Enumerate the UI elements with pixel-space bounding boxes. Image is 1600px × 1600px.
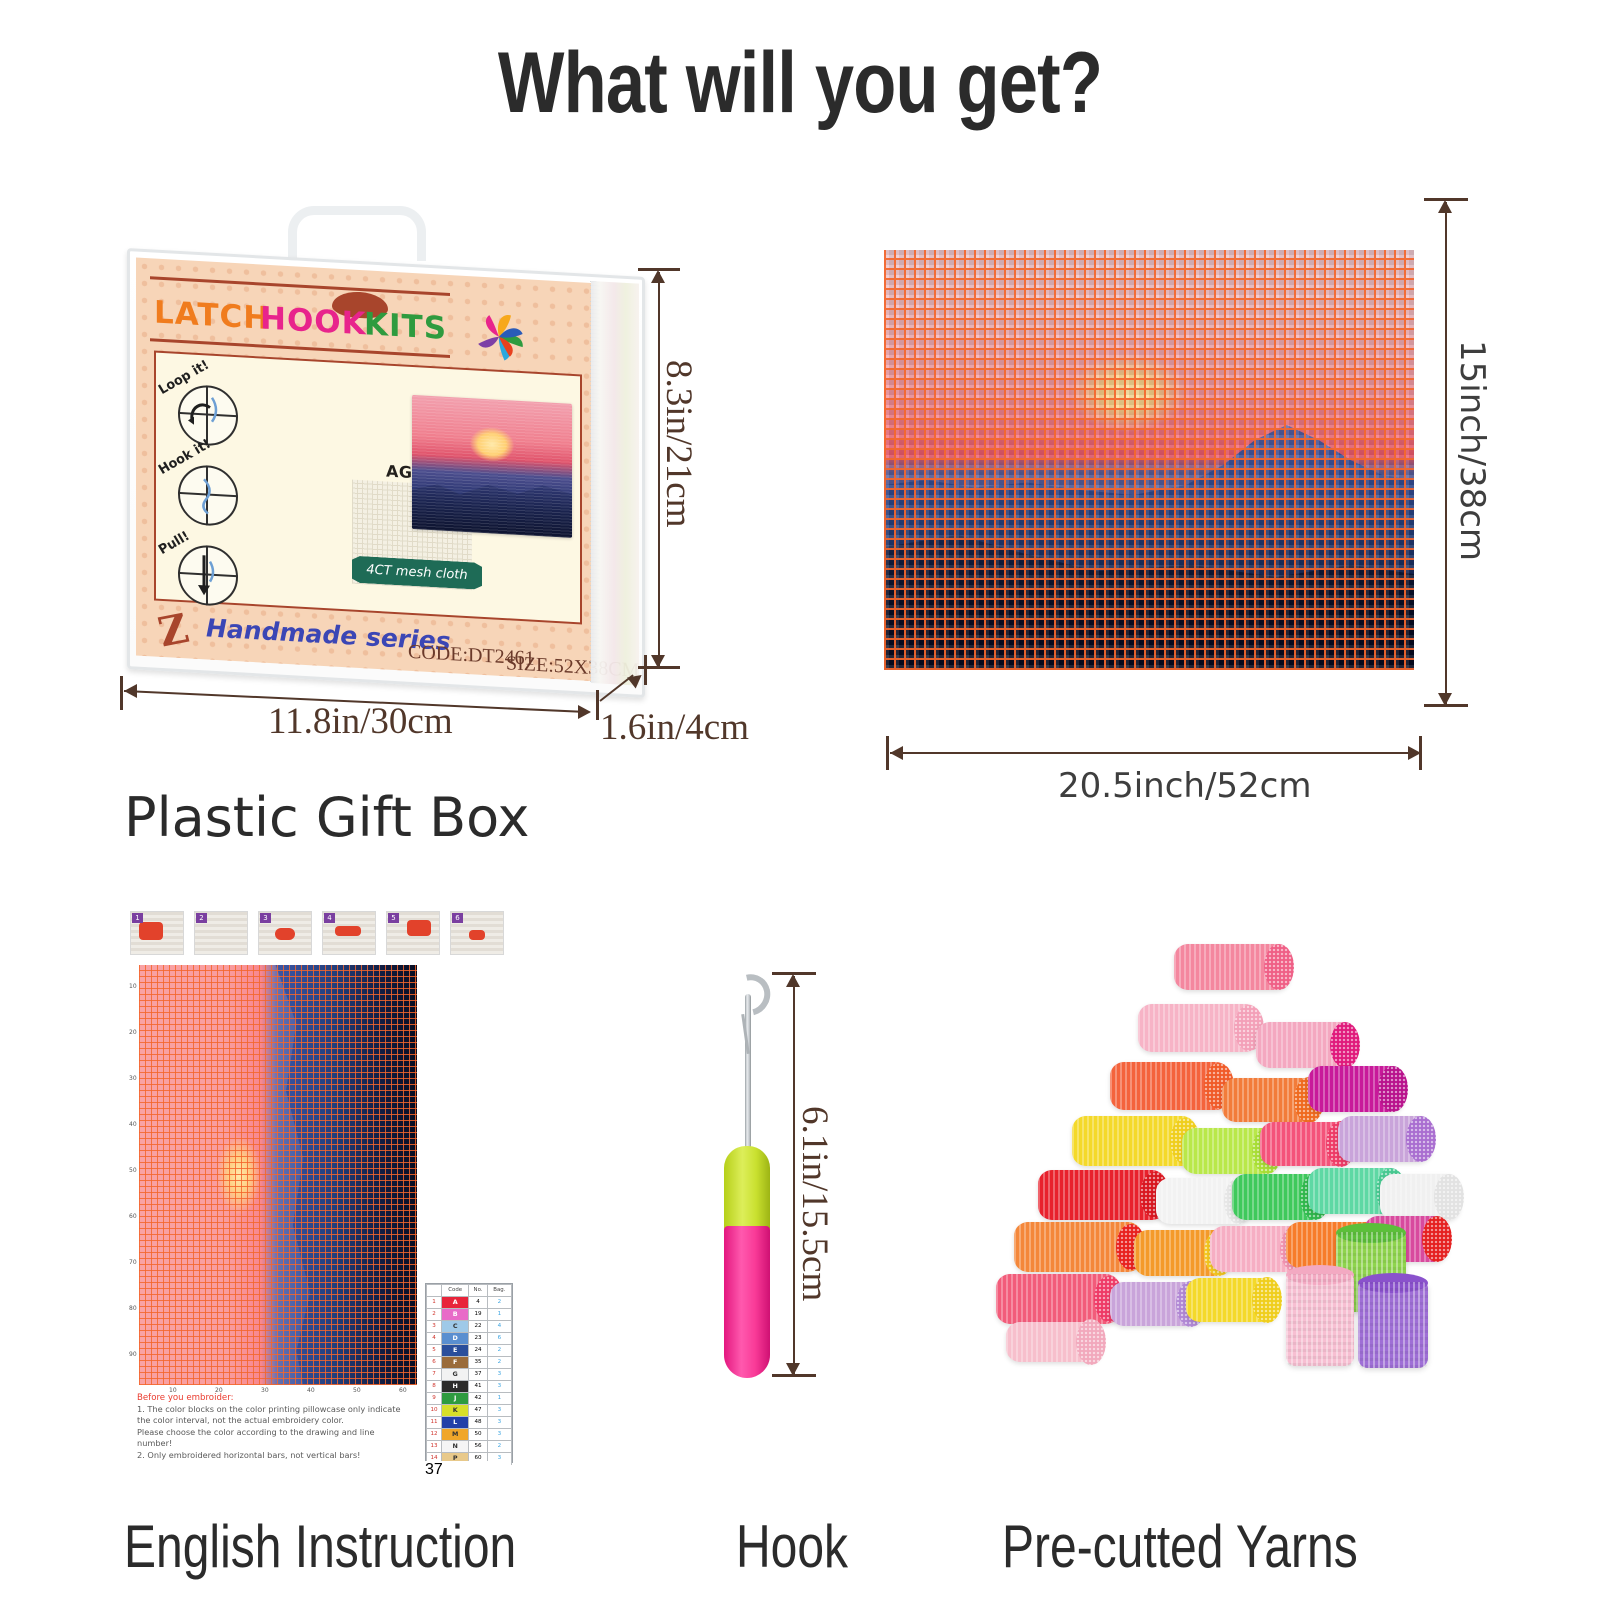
step-thumbnail-3: 3 — [258, 911, 312, 955]
legend-bag: 1 — [487, 1309, 511, 1321]
step-thumbnail-2: 2 — [194, 911, 248, 955]
box-side-contents — [591, 281, 639, 686]
instruction-caption: English Instruction — [124, 1512, 516, 1581]
legend-no: 47 — [469, 1405, 487, 1417]
legend-no: 35 — [469, 1357, 487, 1369]
yarn-piece — [1308, 1066, 1404, 1112]
step-thumbnail-6: 6 — [450, 911, 504, 955]
legend-row: 13N562 — [427, 1441, 512, 1453]
legend-th-bag: Bag. — [487, 1285, 511, 1297]
yarn-piece — [1186, 1278, 1278, 1322]
legend-th-index — [427, 1285, 442, 1297]
legend-index: 7 — [427, 1369, 442, 1381]
legend-code: K — [442, 1405, 469, 1417]
step-thumbnail-5: 5 — [386, 911, 440, 955]
legend-index: 11 — [427, 1417, 442, 1429]
legend-no: 56 — [469, 1441, 487, 1453]
yarns-caption: Pre-cutted Yarns — [1002, 1512, 1358, 1581]
brand-word-kits: KITS — [364, 306, 447, 347]
notice-heading: Before you embroider: — [137, 1393, 407, 1403]
legend-no: 48 — [469, 1417, 487, 1429]
instruction-sheet: 1 2 3 4 5 6 102030405060708090 102030405… — [125, 905, 515, 1470]
step-thumbnail-1: 1 — [130, 911, 184, 955]
yarn-piece — [996, 1274, 1120, 1324]
legend-row: 5E242 — [427, 1345, 512, 1357]
pinwheel-logo-icon — [468, 304, 530, 369]
legend-row: 11L483 — [427, 1417, 512, 1429]
preview-yarn-texture — [412, 395, 572, 538]
legend-code: G — [442, 1369, 469, 1381]
loop-step-icon — [178, 384, 238, 447]
legend-no: 41 — [469, 1381, 487, 1393]
color-legend-table: Code No. Bag. 1A422B1913C2244D2365E2426F… — [425, 1283, 513, 1463]
legend-row: 8H413 — [427, 1381, 512, 1393]
yarn-piece — [1138, 1004, 1260, 1052]
legend-index: 5 — [427, 1345, 442, 1357]
box-front-face: LATCH HOOK KITS Loop it! — [136, 258, 591, 681]
yarn-bundle — [1286, 1274, 1354, 1366]
legend-code: E — [442, 1345, 469, 1357]
legend-code: B — [442, 1309, 469, 1321]
legend-bag: 3 — [487, 1405, 511, 1417]
brand-word-latch: LATCH — [154, 295, 270, 337]
legend-index: 9 — [427, 1393, 442, 1405]
chart-ruler-tick: 40 — [129, 1121, 137, 1128]
chart-ruler-tick: 60 — [129, 1213, 137, 1220]
legend-code: J — [442, 1393, 469, 1405]
legend-index: 10 — [427, 1405, 442, 1417]
legend-index: 1 — [427, 1297, 442, 1309]
legend-code: H — [442, 1381, 469, 1393]
legend-bag: 6 — [487, 1333, 511, 1345]
legend-index: 13 — [427, 1441, 442, 1453]
legend-row: 7G373 — [427, 1369, 512, 1381]
yarn-piece — [1380, 1174, 1460, 1220]
legend-bag: 2 — [487, 1357, 511, 1369]
notice-line-4: 2. Only embroidered horizontal bars, not… — [137, 1450, 407, 1461]
yarn-piece — [1038, 1170, 1166, 1220]
legend-no: 22 — [469, 1321, 487, 1333]
box-inner-card: Loop it! Hook it! Pull! — [154, 351, 582, 625]
legend-row: 1A42 — [427, 1297, 512, 1309]
legend-row: 3C224 — [427, 1321, 512, 1333]
yarn-piece — [1256, 1022, 1356, 1068]
chart-ruler-tick: 70 — [129, 1259, 137, 1266]
legend-row: 12M503 — [427, 1429, 512, 1441]
legend-no: 19 — [469, 1309, 487, 1321]
legend-no: 37 — [469, 1369, 487, 1381]
hook-handle-green — [724, 1146, 770, 1232]
legend-index: 2 — [427, 1309, 442, 1321]
legend-index: 12 — [427, 1429, 442, 1441]
legend-no: 4 — [469, 1297, 487, 1309]
legend-index: 6 — [427, 1357, 442, 1369]
step-thumbnail-strip: 1 2 3 4 5 6 — [130, 905, 515, 957]
chart-ruler-tick: 10 — [129, 983, 137, 990]
box-body: LATCH HOOK KITS Loop it! — [127, 248, 645, 698]
step-thumbnail-4: 4 — [322, 911, 376, 955]
chart-ruler-tick: 80 — [129, 1305, 137, 1312]
chart-ruler-tick: 90 — [129, 1351, 137, 1358]
pattern-chart — [139, 965, 417, 1385]
gift-box-illustration: LATCH HOOK KITS Loop it! — [120, 200, 660, 670]
chart-ruler-tick: 20 — [129, 1029, 137, 1036]
legend-bag: 2 — [487, 1345, 511, 1357]
mesh-canvas-illustration — [884, 250, 1414, 670]
infographic-page: What will you get? LATCH HOOK KITS — [0, 0, 1600, 1600]
chart-grid-overlay — [139, 965, 417, 1385]
brand-word-hook: HOOK — [260, 300, 367, 342]
legend-code: M — [442, 1429, 469, 1441]
legend-bag: 4 — [487, 1321, 511, 1333]
gift-box-caption: Plastic Gift Box — [124, 786, 529, 849]
hook-handle-pink — [724, 1226, 770, 1378]
yarn-piece — [1014, 1222, 1142, 1272]
page-title: What will you get? — [144, 34, 1456, 133]
brand-rule-top — [150, 276, 450, 296]
yarn-piece — [1174, 944, 1290, 990]
legend-table: Code No. Bag. 1A422B1913C2244D2365E2426F… — [426, 1284, 512, 1465]
legend-bag: 3 — [487, 1417, 511, 1429]
legend-bag: 3 — [487, 1369, 511, 1381]
yarn-bundle — [1358, 1282, 1428, 1368]
legend-th-code: Code — [442, 1285, 469, 1297]
yarn-piece — [1072, 1116, 1196, 1166]
legend-bag: 3 — [487, 1381, 511, 1393]
legend-no: 23 — [469, 1333, 487, 1345]
legend-index: 8 — [427, 1381, 442, 1393]
legend-bag: 2 — [487, 1297, 511, 1309]
legend-code: L — [442, 1417, 469, 1429]
legend-no: 24 — [469, 1345, 487, 1357]
yarn-piece — [1338, 1116, 1432, 1162]
legend-row: 2B191 — [427, 1309, 512, 1321]
legend-bag: 1 — [487, 1393, 511, 1405]
legend-th-no: No. — [469, 1285, 487, 1297]
yarn-piece — [1006, 1322, 1102, 1362]
legend-index: 3 — [427, 1321, 442, 1333]
legend-bag: 2 — [487, 1441, 511, 1453]
legend-code: A — [442, 1297, 469, 1309]
hook-step-icon — [178, 464, 238, 527]
handmade-mark-icon: Z — [154, 602, 205, 651]
legend-row: 6F352 — [427, 1357, 512, 1369]
legend-row: 10K473 — [427, 1405, 512, 1417]
legend-code: F — [442, 1357, 469, 1369]
legend-bag: 3 — [487, 1429, 511, 1441]
hook-needle — [745, 994, 751, 1154]
yarn-piece — [1222, 1078, 1320, 1122]
legend-total: 37 — [425, 1461, 511, 1479]
chart-ruler-left: 102030405060708090 — [129, 965, 139, 1385]
hook-caption: Hook — [736, 1512, 848, 1581]
before-you-embroider-notice: Before you embroider: 1. The color block… — [137, 1393, 407, 1461]
legend-code: C — [442, 1321, 469, 1333]
yarn-illustration — [960, 930, 1460, 1390]
box-handle — [288, 206, 426, 261]
chart-ruler-tick: 30 — [129, 1075, 137, 1082]
chart-ruler-tick: 50 — [129, 1167, 137, 1174]
pull-step-icon — [178, 544, 238, 607]
legend-no: 50 — [469, 1429, 487, 1441]
legend-header-row: Code No. Bag. — [427, 1285, 512, 1297]
legend-code: D — [442, 1333, 469, 1345]
canvas-mesh-grid — [884, 250, 1414, 670]
legend-index: 4 — [427, 1333, 442, 1345]
notice-line-1: 1. The color blocks on the color printin… — [137, 1404, 407, 1415]
yarn-piece — [1110, 1062, 1230, 1110]
design-preview-image — [412, 395, 572, 538]
legend-row: 4D236 — [427, 1333, 512, 1345]
notice-line-2: the color interval, not the actual embro… — [137, 1415, 407, 1426]
legend-body: 1A422B1913C2244D2365E2426F3527G3738H4139… — [427, 1297, 512, 1465]
legend-no: 42 — [469, 1393, 487, 1405]
notice-line-3: Please choose the color according to the… — [137, 1427, 407, 1450]
legend-row: 9J421 — [427, 1393, 512, 1405]
legend-code: N — [442, 1441, 469, 1453]
